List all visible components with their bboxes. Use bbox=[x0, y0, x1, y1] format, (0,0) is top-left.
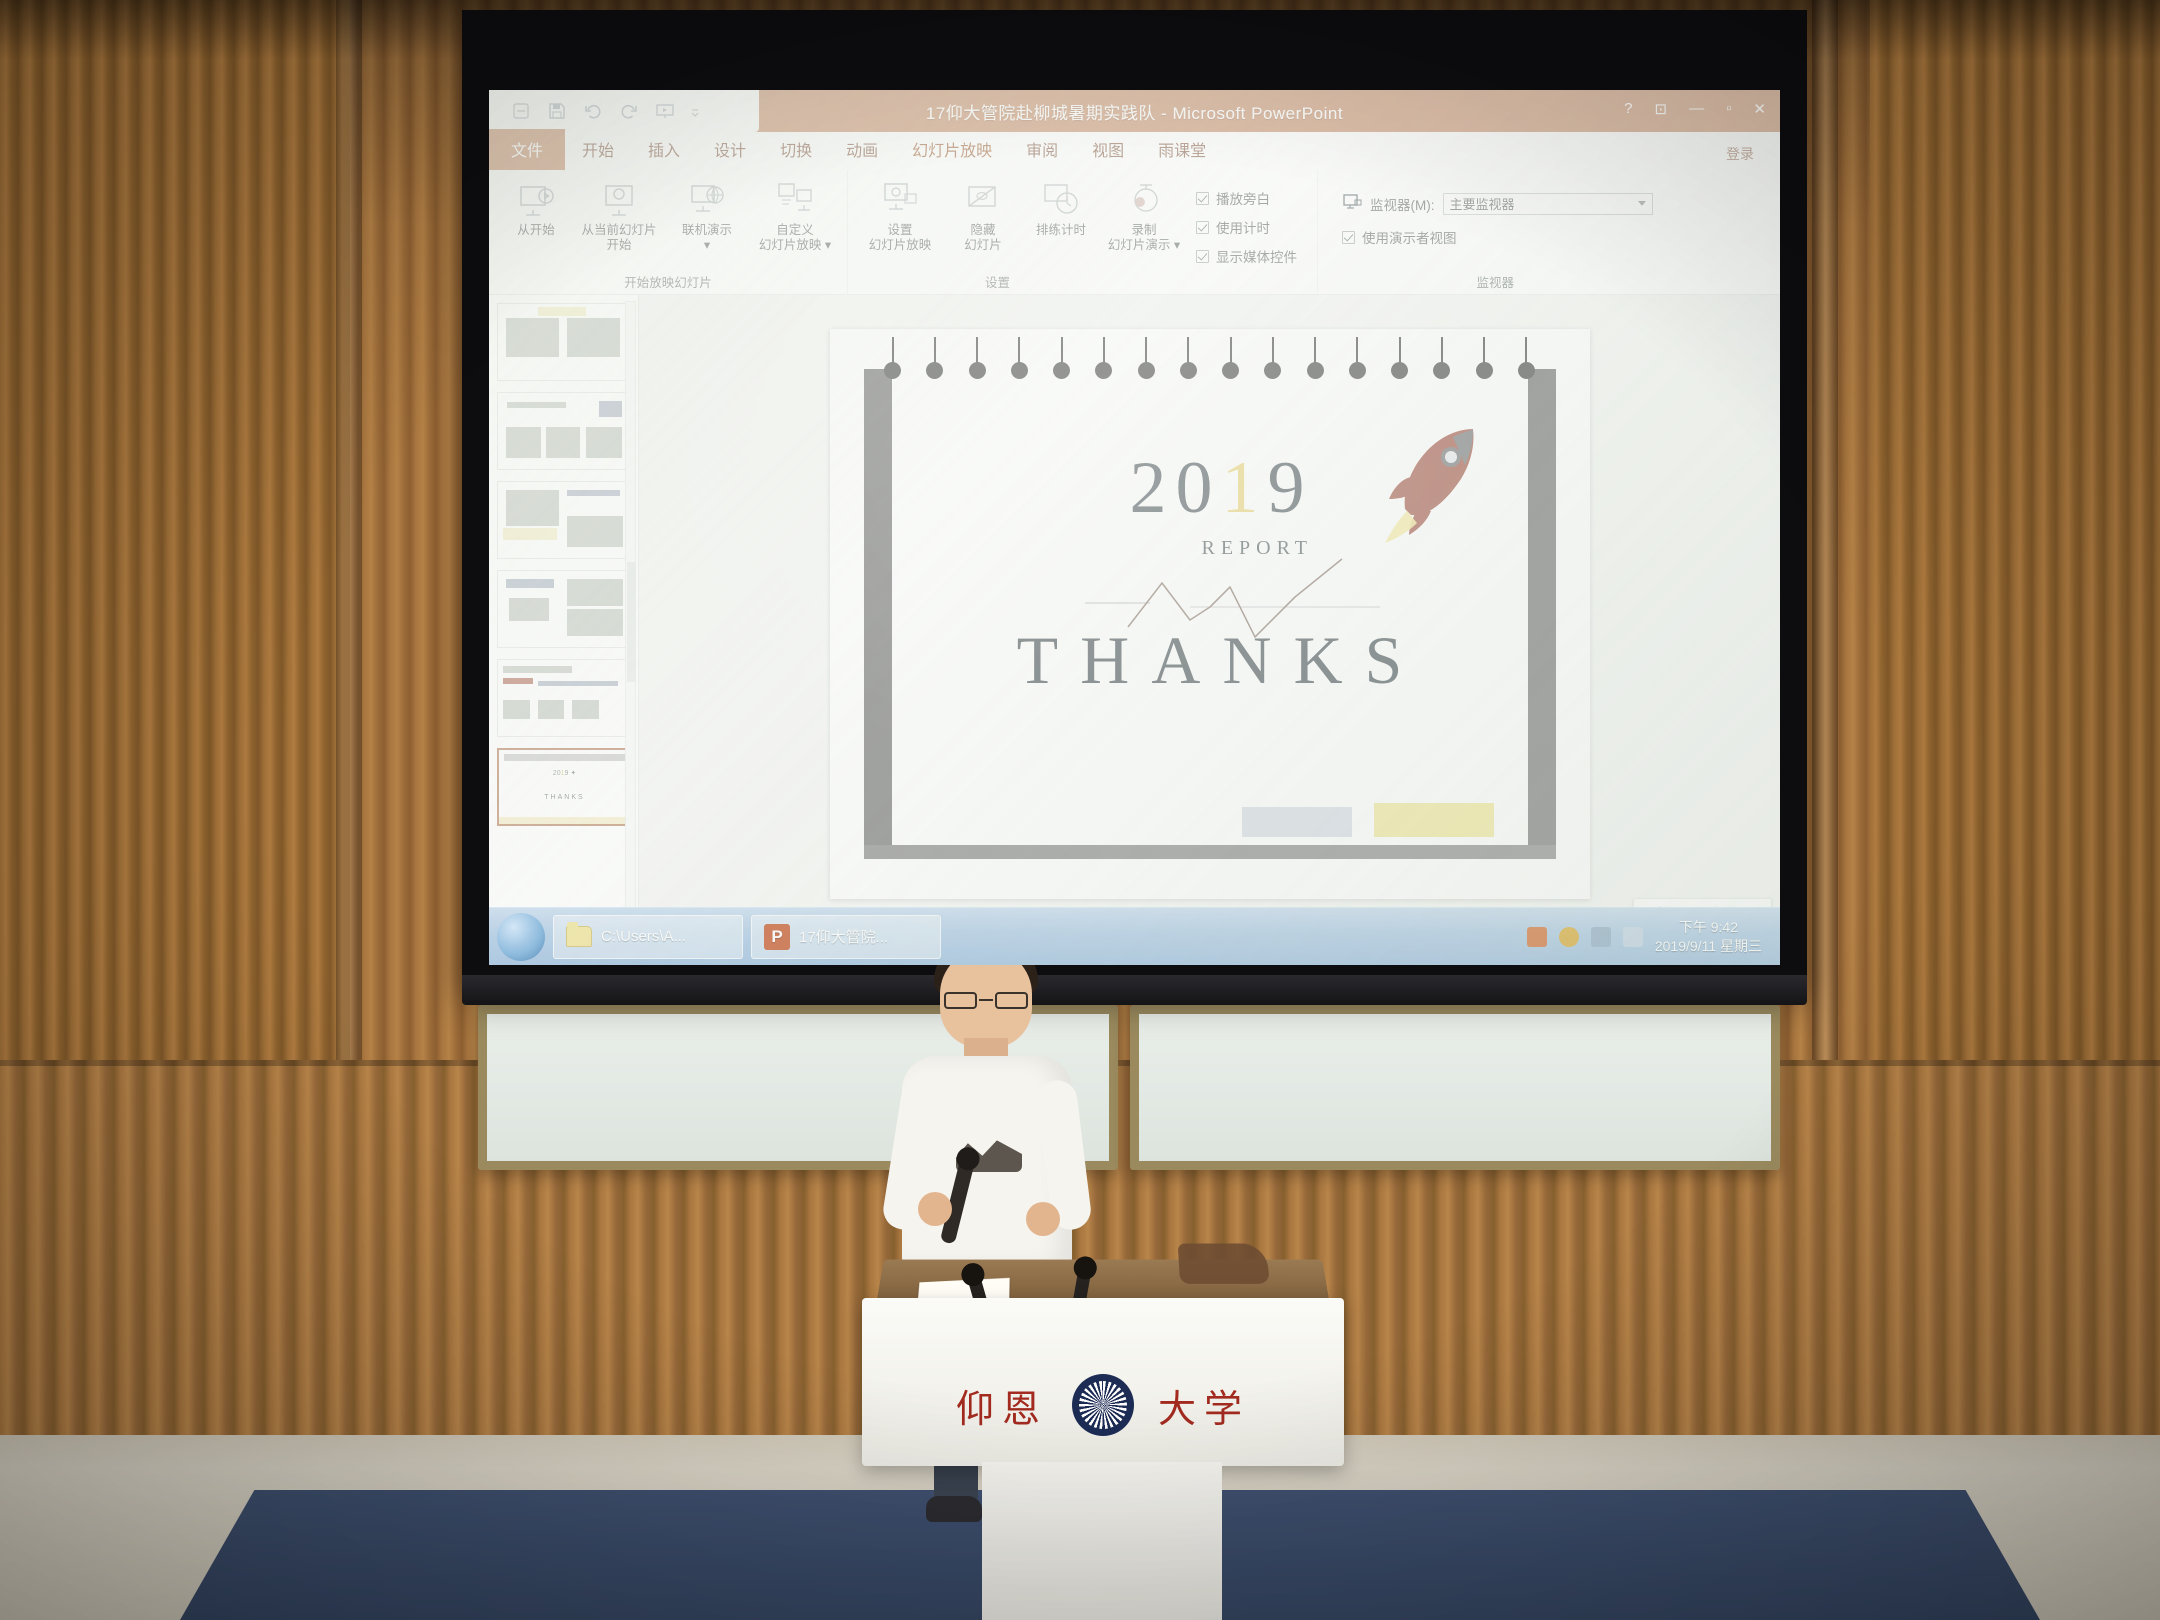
thumbnail-slide-12[interactable]: 2019 ✦ THANKS bbox=[497, 748, 632, 826]
close-icon[interactable]: ✕ bbox=[1753, 100, 1766, 118]
notebook-right-spine bbox=[1528, 369, 1556, 847]
tab-rain-classroom[interactable]: 雨课堂 bbox=[1141, 131, 1223, 170]
thumbnail-caption: THANKS bbox=[499, 793, 630, 802]
ribbon-group-monitors: 监视器(M): 主要监视器 使用演示者视图 监视器 bbox=[1317, 170, 1673, 294]
podium-logo: 仰恩 大学 bbox=[862, 1374, 1344, 1436]
btn-from-current-slide-label: 从当前幻灯片 开始 bbox=[581, 223, 656, 254]
btn-record-slideshow-label: 录制 幻灯片演示 ▾ bbox=[1108, 223, 1180, 254]
signin-link[interactable]: 登录 bbox=[1726, 144, 1754, 164]
hand-left bbox=[918, 1192, 952, 1226]
checkbox-box[interactable] bbox=[1196, 250, 1209, 263]
restore-icon[interactable]: ▫ bbox=[1726, 100, 1731, 118]
podium-front-panel: 仰恩 大学 bbox=[862, 1298, 1344, 1466]
projection-screen-bottom-bar bbox=[462, 975, 1807, 1005]
notebook-bottom-bar bbox=[864, 845, 1556, 859]
ring-icon bbox=[1177, 337, 1199, 379]
setup-checkbox-list: 播放旁白 使用计时 显示媒体控件 bbox=[1190, 176, 1307, 266]
lectern-podium: 仰恩 大学 bbox=[862, 1258, 1344, 1620]
record-slideshow-icon bbox=[1123, 180, 1165, 220]
monitor-select[interactable]: 主要监视器 bbox=[1443, 193, 1653, 215]
thumbnail-slide-9[interactable] bbox=[497, 481, 632, 559]
sogou-icon[interactable] bbox=[1527, 927, 1547, 947]
university-seal-icon bbox=[1072, 1374, 1134, 1436]
btn-custom-slideshow[interactable]: 自定义 幻灯片放映 ▾ bbox=[753, 176, 837, 254]
powerpoint-window: 17仰大管院赴柳城暑期实践队 - Microsoft PowerPoint ? … bbox=[489, 90, 1780, 965]
folder-icon bbox=[566, 926, 592, 947]
ring-icon bbox=[1515, 337, 1537, 379]
btn-present-online[interactable]: 联机演示 ▾ bbox=[665, 176, 749, 254]
network-icon[interactable] bbox=[1591, 927, 1611, 947]
btn-custom-slideshow-label: 自定义 幻灯片放映 ▾ bbox=[759, 223, 831, 254]
ring-icon bbox=[1262, 337, 1284, 379]
slide-stage: 2019 REPORT THANKS 个性设置，点我看看 bbox=[639, 295, 1780, 933]
ring-icon bbox=[1008, 337, 1030, 379]
minimize-icon[interactable]: — bbox=[1689, 100, 1704, 118]
ribbon-group-start-slideshow-label: 开始放映幻灯片 bbox=[489, 272, 847, 291]
bag bbox=[1178, 1243, 1271, 1284]
checkbox-use-timings-label: 使用计时 bbox=[1216, 217, 1270, 237]
tab-slideshow[interactable]: 幻灯片放映 bbox=[895, 131, 1009, 170]
whiteboard-right bbox=[1130, 1005, 1780, 1170]
monitor-icon bbox=[1342, 192, 1362, 215]
tab-animations[interactable]: 动画 bbox=[829, 131, 895, 170]
system-tray[interactable]: 下午 9:42 2019/9/11 星期三 bbox=[1527, 918, 1780, 956]
slide-thumbnail-pane[interactable]: 2019 ✦ THANKS bbox=[489, 295, 639, 933]
monitor-select-value: 主要监视器 bbox=[1450, 194, 1515, 213]
clock-date: 2019/9/11 星期三 bbox=[1655, 937, 1762, 956]
notebook-rings bbox=[882, 337, 1538, 391]
btn-rehearse-timings[interactable]: 排练计时 bbox=[1024, 176, 1098, 238]
checkbox-presenter-view-label: 使用演示者视图 bbox=[1362, 227, 1457, 247]
titlebar: 17仰大管院赴柳城暑期实践队 - Microsoft PowerPoint ? … bbox=[489, 90, 1780, 132]
setup-slideshow-icon bbox=[879, 180, 921, 220]
ribbon-body: 从开始 从当前幻灯片 开始 联机演示 ▾ bbox=[489, 170, 1780, 295]
chevron-down-icon[interactable] bbox=[1638, 201, 1646, 206]
checkbox-box[interactable] bbox=[1342, 231, 1355, 244]
editor-main-area: 2019 ✦ THANKS bbox=[489, 295, 1780, 933]
slide-footer-yellow-block bbox=[1374, 803, 1494, 837]
ring-icon bbox=[1431, 337, 1453, 379]
update-icon[interactable] bbox=[1559, 927, 1579, 947]
btn-rehearse-timings-label: 排练计时 bbox=[1036, 223, 1086, 238]
monitor-row: 监视器(M): 主要监视器 bbox=[1342, 192, 1653, 215]
rehearse-timings-icon bbox=[1040, 180, 1082, 220]
taskbar-clock[interactable]: 下午 9:42 2019/9/11 星期三 bbox=[1655, 918, 1770, 956]
start-orb-icon[interactable] bbox=[497, 913, 545, 961]
ring-icon bbox=[882, 337, 904, 379]
ring-icon bbox=[1135, 337, 1157, 379]
taskbar-item-powerpoint[interactable]: P 17仰大管院... bbox=[751, 915, 941, 959]
year-highlight: 1 bbox=[1222, 447, 1268, 529]
slide-footer-gray-block bbox=[1242, 807, 1352, 837]
custom-slideshow-icon bbox=[774, 180, 816, 220]
window-title: 17仰大管院赴柳城暑期实践队 - Microsoft PowerPoint bbox=[489, 99, 1780, 124]
checkbox-use-timings[interactable]: 使用计时 bbox=[1196, 217, 1297, 237]
clock-time: 下午 9:42 bbox=[1655, 918, 1762, 937]
rocket-icon bbox=[1375, 419, 1495, 549]
ribbon-group-start-slideshow: 从开始 从当前幻灯片 开始 联机演示 ▾ bbox=[489, 170, 847, 294]
ribbon-group-monitors-label: 监视器 bbox=[1318, 272, 1673, 291]
checkbox-box[interactable] bbox=[1196, 192, 1209, 205]
thumbnail-slide-10[interactable] bbox=[497, 570, 632, 648]
ring-icon bbox=[1220, 337, 1242, 379]
btn-setup-slideshow[interactable]: 设置 幻灯片放映 bbox=[858, 176, 942, 254]
ribbon-group-setup-label: 设置 bbox=[848, 272, 1147, 291]
podium-logo-left-text: 仰恩 bbox=[956, 1378, 1048, 1433]
btn-hide-slide-label: 隐藏 幻灯片 bbox=[964, 223, 1002, 254]
tab-insert[interactable]: 插入 bbox=[631, 131, 697, 170]
checkbox-show-media-controls[interactable]: 显示媒体控件 bbox=[1196, 246, 1297, 266]
thumbnail-slide-8[interactable] bbox=[497, 392, 632, 470]
btn-from-beginning-label: 从开始 bbox=[517, 223, 555, 238]
tab-design[interactable]: 设计 bbox=[697, 131, 763, 170]
btn-present-online-label: 联机演示 ▾ bbox=[682, 223, 732, 254]
ring-icon bbox=[924, 337, 946, 379]
thumbnail-slide-11[interactable] bbox=[497, 659, 632, 737]
hide-slide-icon bbox=[962, 180, 1004, 220]
year-prefix: 20 bbox=[1130, 447, 1222, 529]
window-controls[interactable]: ? ⊡ — ▫ ✕ bbox=[1624, 100, 1766, 118]
checkbox-presenter-view[interactable]: 使用演示者视图 bbox=[1342, 227, 1653, 247]
ring-icon bbox=[1473, 337, 1495, 379]
thumbnail-scrollbar[interactable] bbox=[625, 301, 636, 911]
btn-setup-slideshow-label: 设置 幻灯片放映 bbox=[869, 223, 932, 254]
tab-view[interactable]: 视图 bbox=[1075, 131, 1141, 170]
present-online-icon bbox=[686, 180, 728, 220]
tab-review[interactable]: 审阅 bbox=[1009, 131, 1075, 170]
slide-year: 2019 bbox=[1130, 451, 1314, 525]
taskbar-item-powerpoint-label: 17仰大管院... bbox=[799, 926, 888, 947]
volume-icon[interactable] bbox=[1623, 927, 1643, 947]
year-suffix: 9 bbox=[1268, 447, 1314, 529]
current-slide[interactable]: 2019 REPORT THANKS bbox=[830, 329, 1590, 899]
ring-icon bbox=[966, 337, 988, 379]
hand-right bbox=[1026, 1202, 1060, 1236]
play-from-current-icon bbox=[598, 180, 640, 220]
checkbox-show-media-controls-label: 显示媒体控件 bbox=[1216, 246, 1297, 266]
ring-icon bbox=[1093, 337, 1115, 379]
play-from-beginning-icon bbox=[515, 180, 557, 220]
tab-home[interactable]: 开始 bbox=[565, 131, 631, 170]
powerpoint-icon: P bbox=[764, 924, 790, 950]
podium-logo-right-text: 大学 bbox=[1158, 1378, 1250, 1433]
monitor-label: 监视器(M): bbox=[1370, 194, 1435, 214]
ribbon-tabs[interactable]: 文件 开始 插入 设计 切换 动画 幻灯片放映 审阅 视图 雨课堂 登录 bbox=[489, 132, 1780, 170]
ring-icon bbox=[1389, 337, 1411, 379]
btn-from-current-slide[interactable]: 从当前幻灯片 开始 bbox=[577, 176, 661, 254]
btn-hide-slide[interactable]: 隐藏 幻灯片 bbox=[946, 176, 1020, 254]
slide-thanks-title: THANKS bbox=[830, 621, 1590, 700]
btn-record-slideshow[interactable]: 录制 幻灯片演示 ▾ bbox=[1102, 176, 1186, 254]
windows-taskbar[interactable]: C:\Users\A... P 17仰大管院... 下午 9:42 2019/9… bbox=[489, 907, 1780, 965]
ring-icon bbox=[1051, 337, 1073, 379]
thumbnail-slide-7[interactable] bbox=[497, 303, 632, 381]
taskbar-item-explorer-label: C:\Users\A... bbox=[601, 928, 686, 945]
notebook-left-spine bbox=[864, 369, 892, 847]
slide-report-label: REPORT bbox=[1202, 537, 1313, 560]
tab-transitions[interactable]: 切换 bbox=[763, 131, 829, 170]
glasses-icon bbox=[942, 992, 1030, 1009]
help-icon[interactable]: ? bbox=[1624, 100, 1632, 118]
tab-file[interactable]: 文件 bbox=[489, 129, 565, 170]
ring-icon bbox=[1304, 337, 1326, 379]
projected-desktop: 17仰大管院赴柳城暑期实践队 - Microsoft PowerPoint ? … bbox=[489, 90, 1780, 965]
btn-from-beginning[interactable]: 从开始 bbox=[499, 176, 573, 238]
taskbar-item-explorer[interactable]: C:\Users\A... bbox=[553, 915, 743, 959]
ring-icon bbox=[1346, 337, 1368, 379]
checkbox-play-narrations-label: 播放旁白 bbox=[1216, 188, 1270, 208]
ribbon-group-setup: 设置 幻灯片放映 隐藏 幻灯片 排练计时 bbox=[847, 170, 1317, 294]
checkbox-play-narrations[interactable]: 播放旁白 bbox=[1196, 188, 1297, 208]
thumbnail-scrollbar-handle[interactable] bbox=[627, 562, 636, 682]
podium-stem bbox=[982, 1462, 1222, 1620]
ribbon-options-icon[interactable]: ⊡ bbox=[1655, 100, 1668, 118]
checkbox-box[interactable] bbox=[1196, 221, 1209, 234]
